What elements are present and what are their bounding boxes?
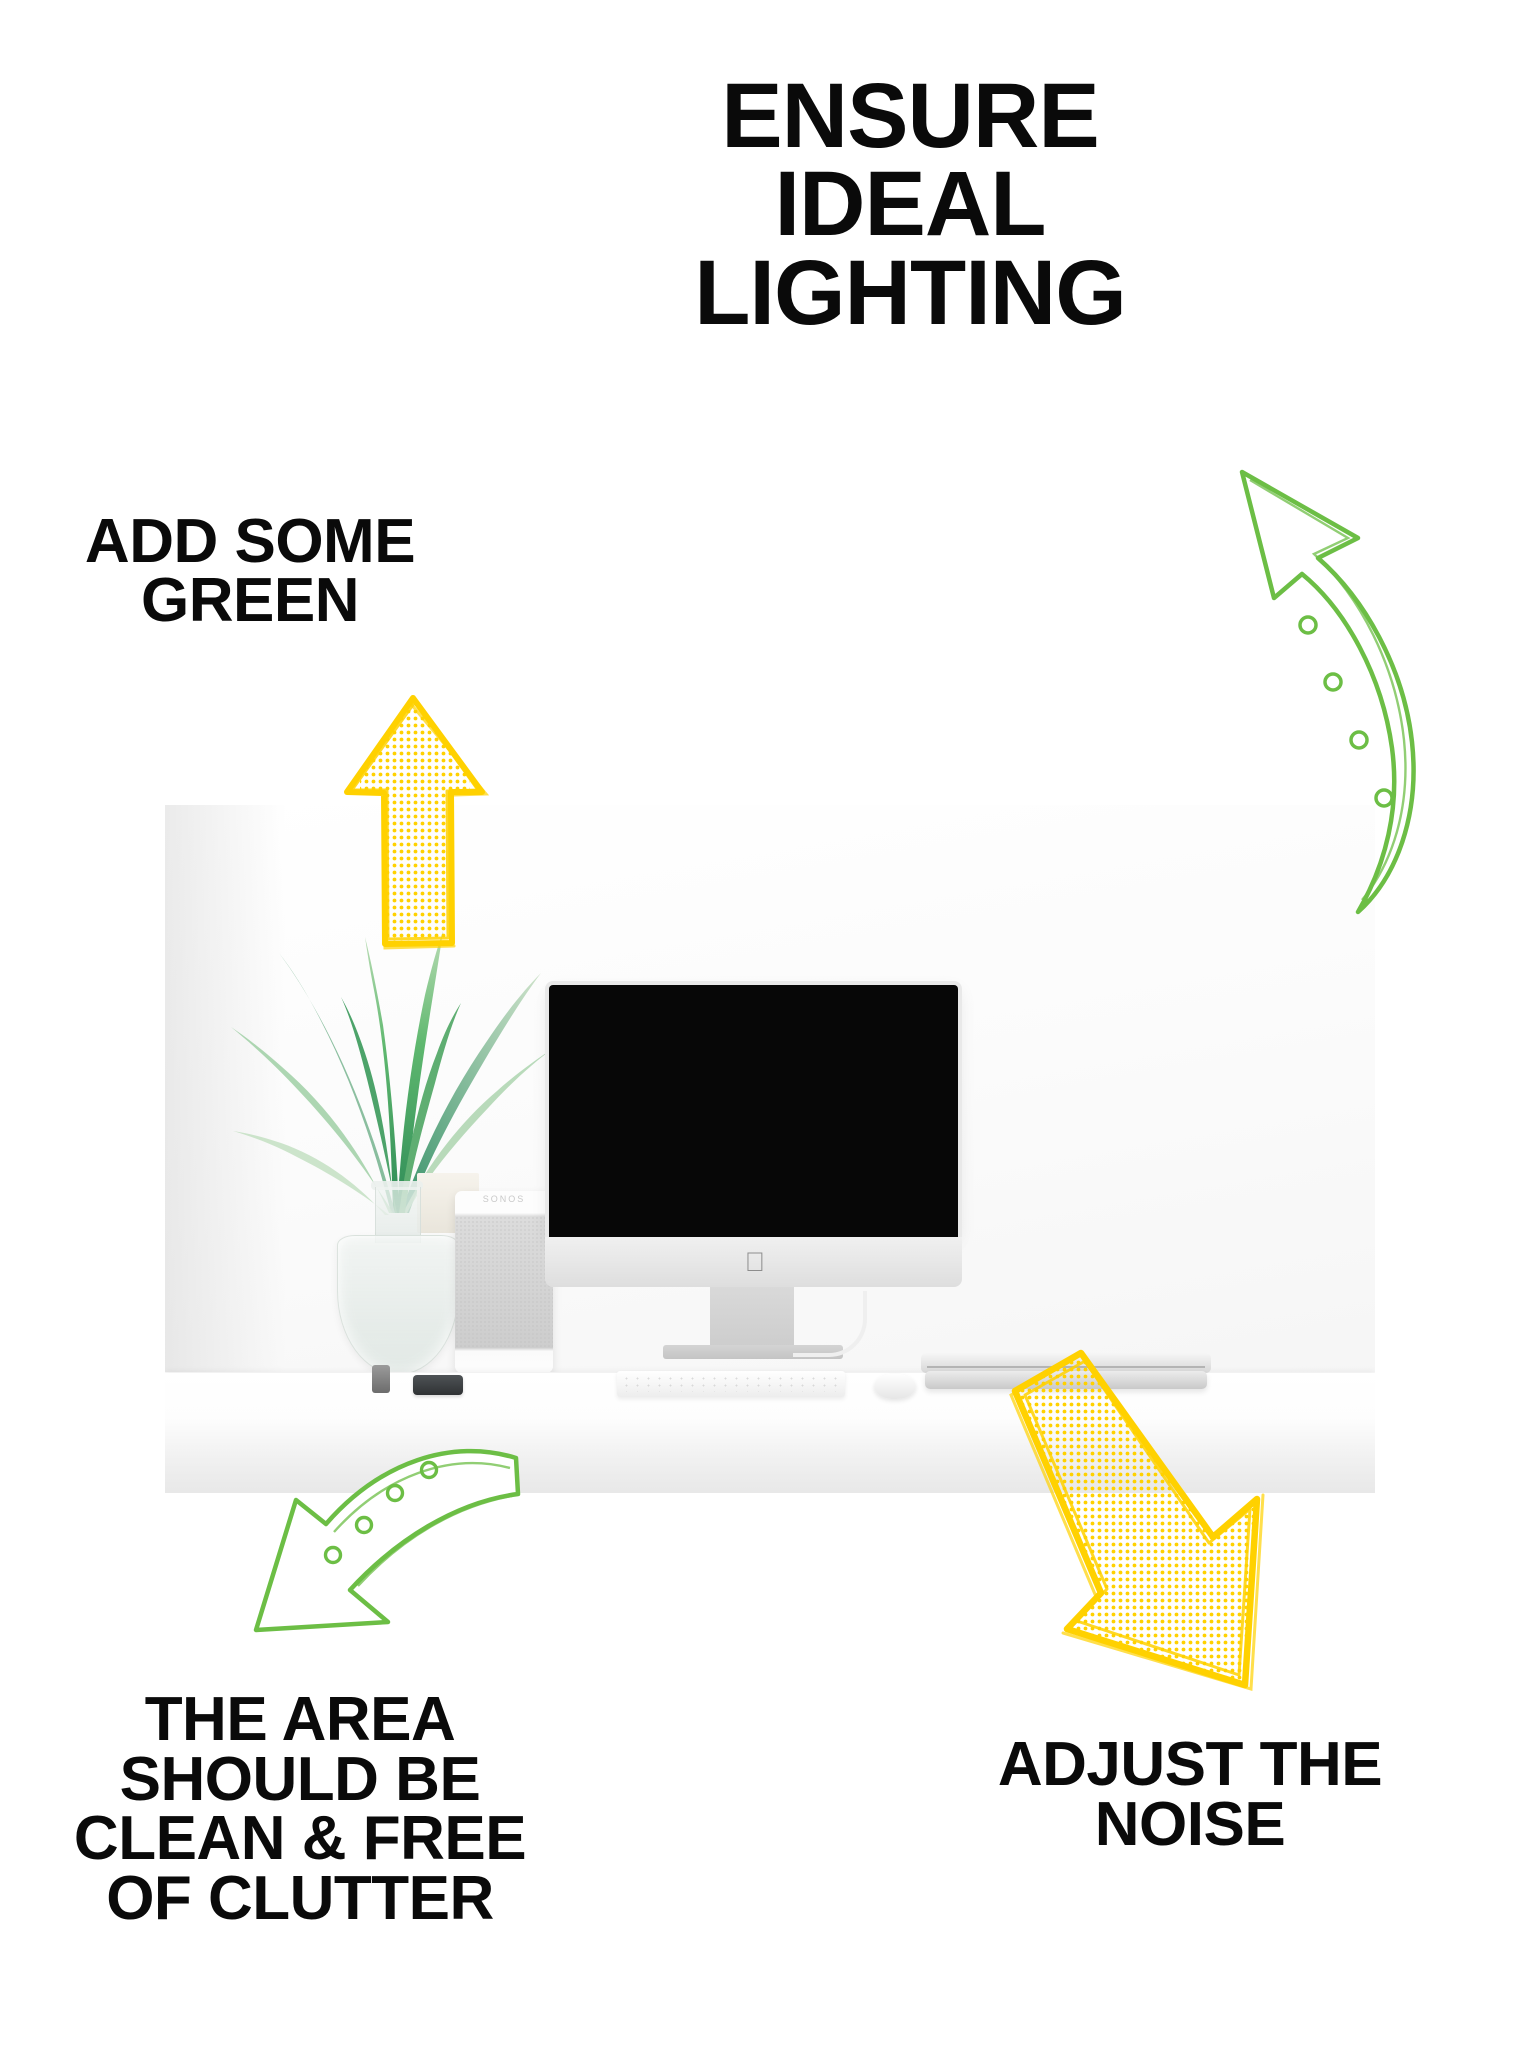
callout-adjust-the-noise: ADJUST THE NOISE	[940, 1735, 1440, 1854]
imac-stand-neck	[710, 1287, 794, 1347]
imac-display	[549, 985, 958, 1237]
keyboard-keys	[621, 1375, 841, 1392]
magic-mouse	[874, 1374, 916, 1399]
arrow-green-down-left-curved-icon	[230, 1430, 550, 1670]
sonos-brand-label: SONOS	[455, 1194, 553, 1204]
arrow-green-up-curved-icon	[1190, 460, 1440, 920]
arrow-up-yellow-icon	[300, 680, 520, 1000]
page-title: ENSURE IDEAL LIGHTING	[560, 72, 1260, 337]
cable-plug	[372, 1365, 390, 1393]
apple-keyboard	[617, 1371, 845, 1397]
callout-clean-and-free-of-clutter: THE AREA SHOULD BE CLEAN & FREE OF CLUTT…	[30, 1690, 570, 1928]
speaker-grille	[455, 1216, 553, 1347]
smartphone	[413, 1375, 463, 1395]
poster-canvas: SONOS 	[0, 0, 1536, 2048]
sonos-speaker: SONOS	[455, 1191, 553, 1373]
apple-logo-icon: 	[743, 1249, 767, 1277]
callout-add-some-green: ADD SOME GREEN	[40, 513, 460, 631]
arrow-yellow-down-right-icon	[1005, 1345, 1325, 1705]
